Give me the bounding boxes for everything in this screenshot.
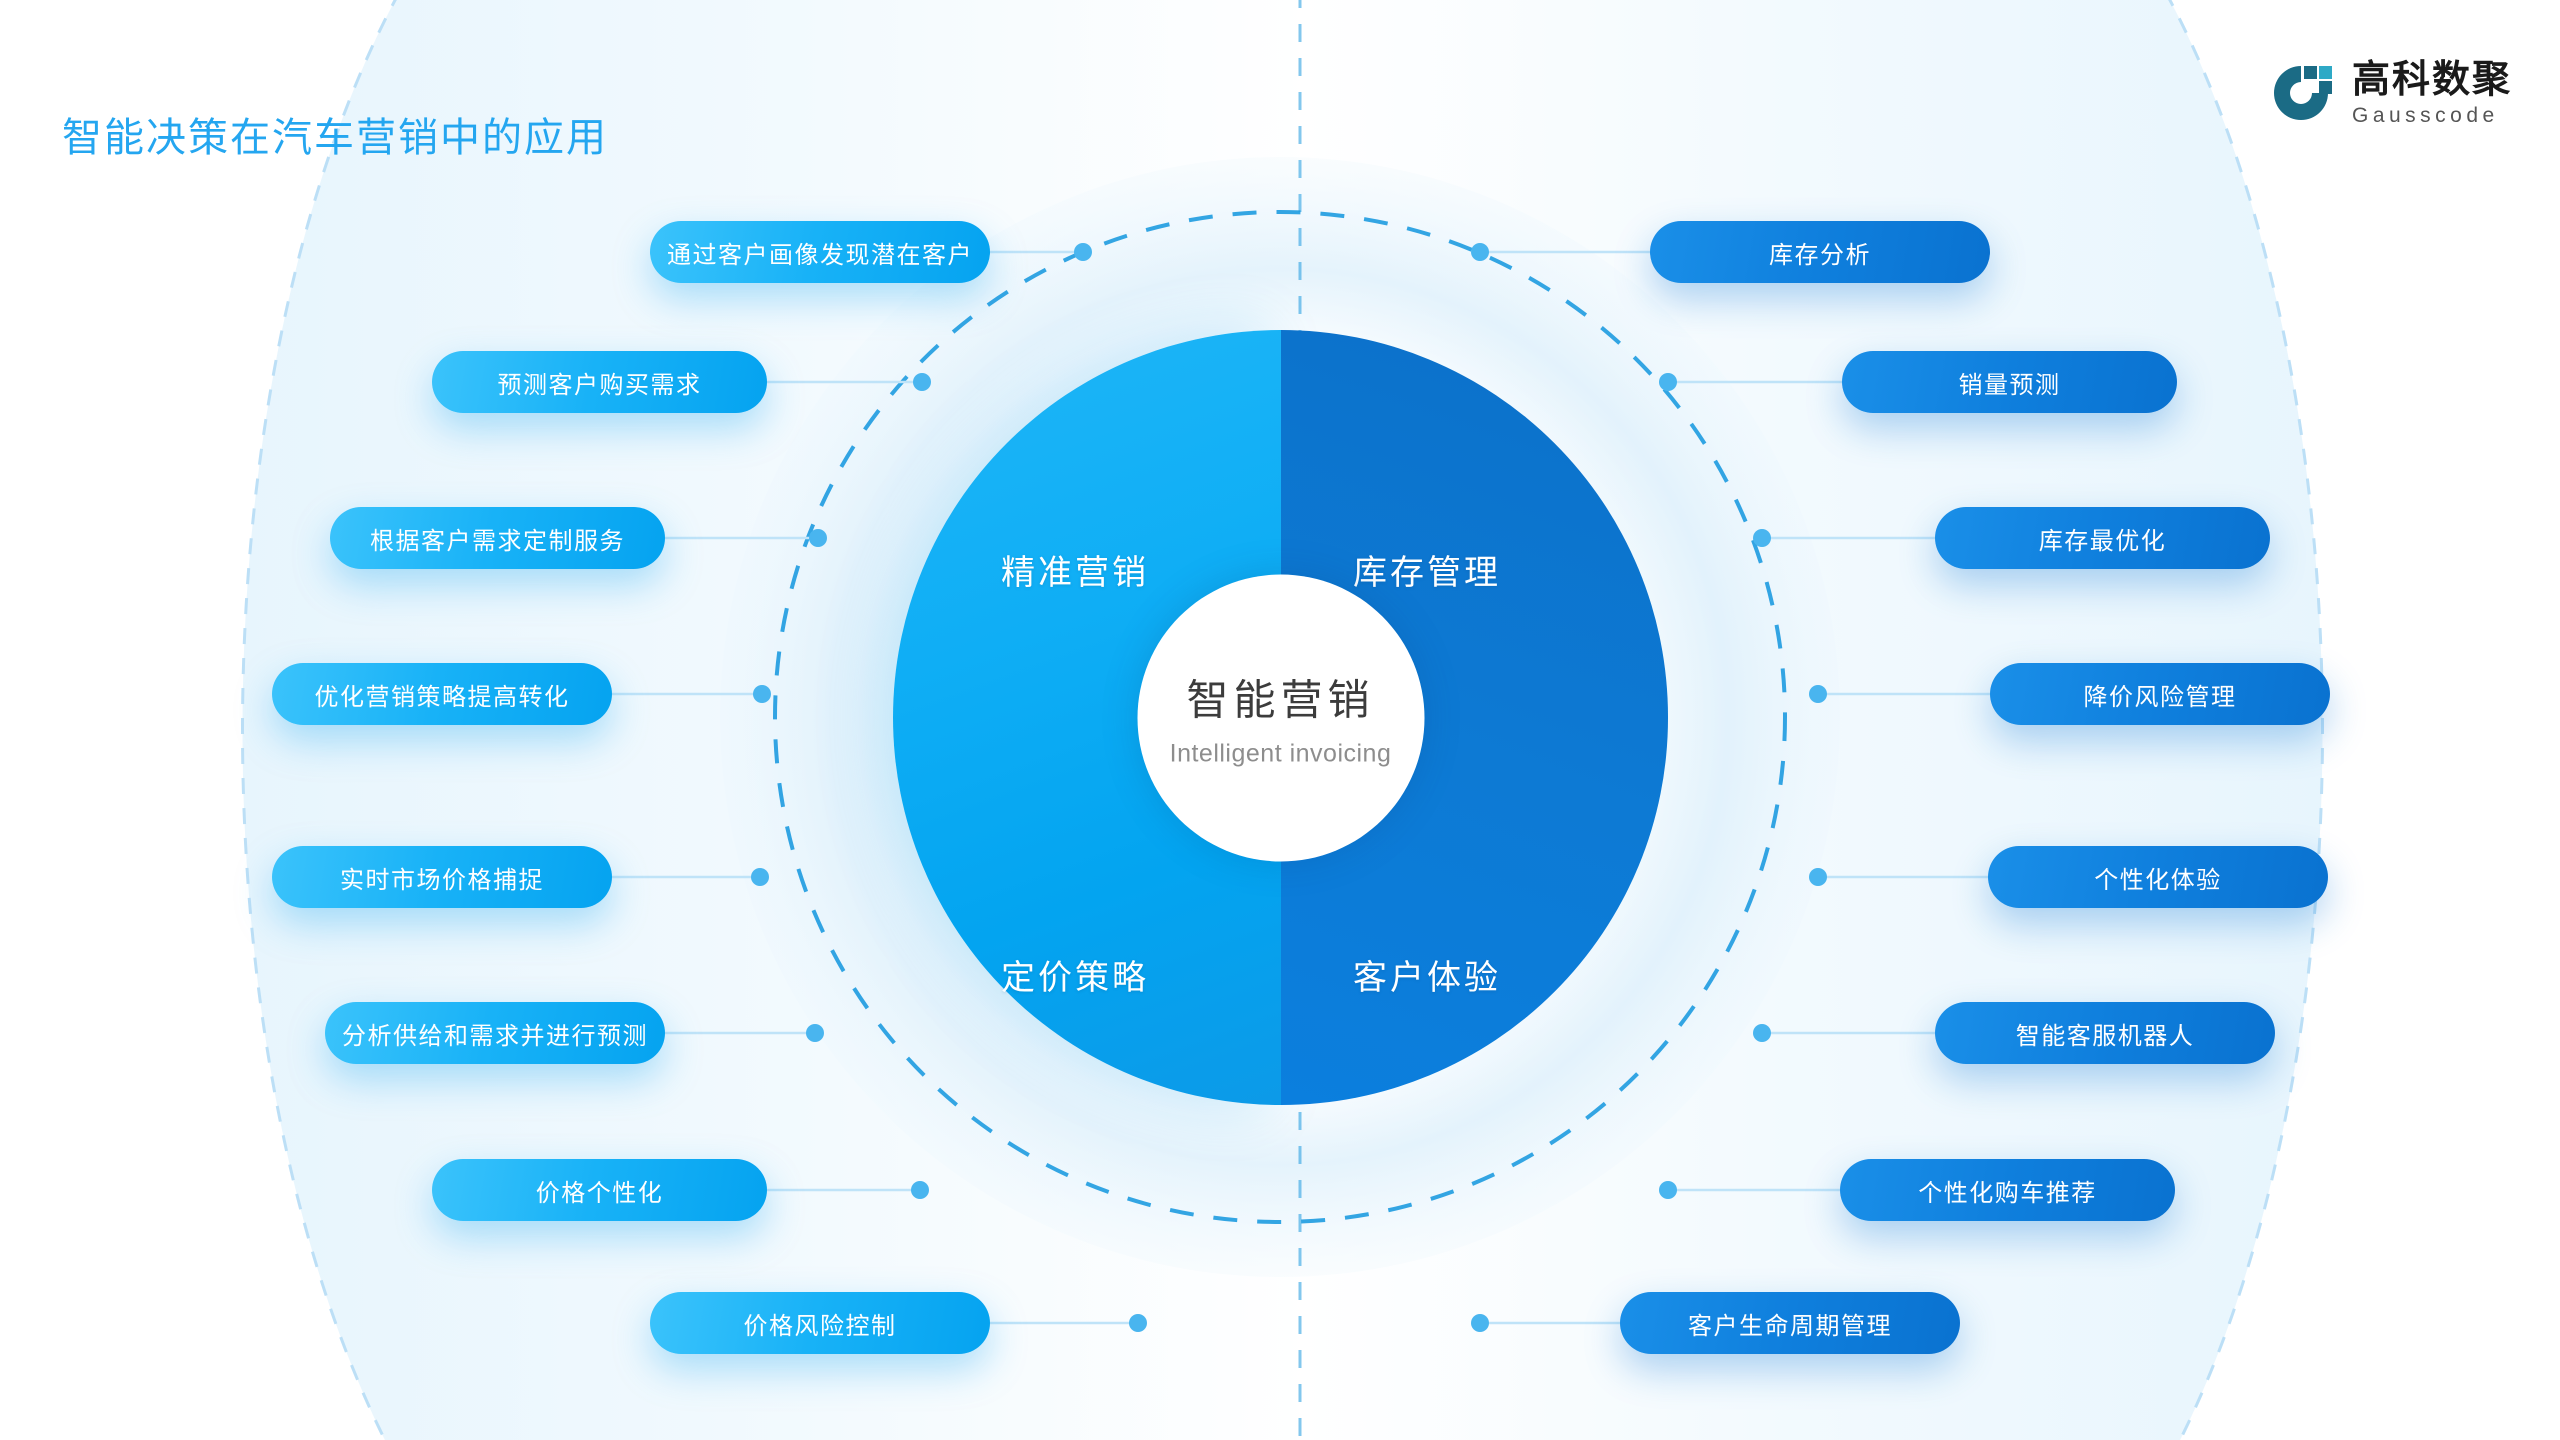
left-item-8[interactable]: 价格风险控制 [650,1292,990,1354]
logo-name-cn: 高科数聚 [2352,61,2512,99]
gausscode-logo-icon [2268,60,2334,126]
quadrant-donut: 精准营销 库存管理 定价策略 客户体验 智能营销 Intelligent inv… [893,330,1668,1105]
right-item-4[interactable]: 降价风险管理 [1990,663,2330,725]
right-item-5[interactable]: 个性化体验 [1988,846,2328,908]
center-title-en: Intelligent invoicing [1170,740,1392,769]
right-item-6[interactable]: 智能客服机器人 [1935,1002,2275,1064]
quadrant-label-customer-experience: 客户体验 [1353,950,1501,999]
brand-logo: 高科数聚 Gausscode [2268,60,2512,126]
left-item-5[interactable]: 实时市场价格捕捉 [272,846,612,908]
quadrant-label-precision-marketing: 精准营销 [1001,545,1149,594]
infographic-canvas: 智能决策在汽车营销中的应用 高科数聚 Gausscode 精准营销 库存管理 定… [0,0,2560,1440]
left-item-3[interactable]: 根据客户需求定制服务 [330,507,665,569]
quadrant-label-inventory-management: 库存管理 [1353,545,1501,594]
left-item-1[interactable]: 通过客户画像发现潜在客户 [650,221,990,283]
center-title-cn: 智能营销 [1186,667,1374,728]
left-item-4[interactable]: 优化营销策略提高转化 [272,663,612,725]
right-item-2[interactable]: 销量预测 [1842,351,2177,413]
quadrant-label-pricing-strategy: 定价策略 [1001,950,1149,999]
right-item-8[interactable]: 客户生命周期管理 [1620,1292,1960,1354]
page-title: 智能决策在汽车营销中的应用 [62,105,608,163]
center-hub: 智能营销 Intelligent invoicing [1137,574,1424,861]
left-item-7[interactable]: 价格个性化 [432,1159,767,1221]
left-item-2[interactable]: 预测客户购买需求 [432,351,767,413]
left-item-6[interactable]: 分析供给和需求并进行预测 [325,1002,665,1064]
logo-name-en: Gausscode [2352,105,2512,126]
right-item-7[interactable]: 个性化购车推荐 [1840,1159,2175,1221]
right-item-3[interactable]: 库存最优化 [1935,507,2270,569]
right-item-1[interactable]: 库存分析 [1650,221,1990,283]
